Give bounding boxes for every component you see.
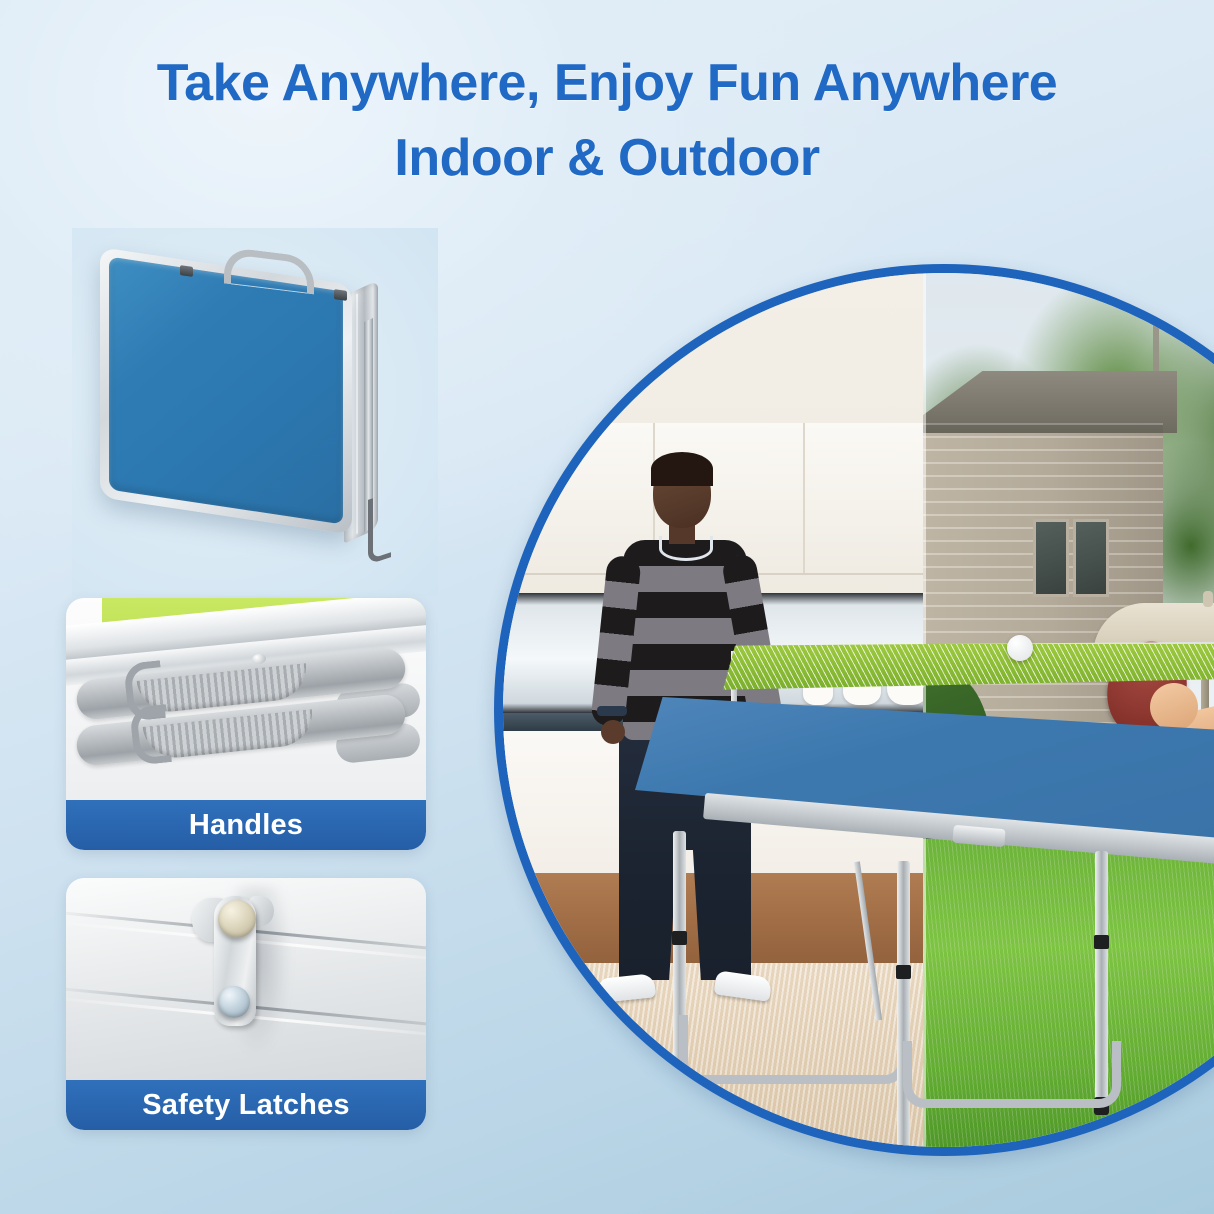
feature-card-handles: Handles	[66, 598, 426, 850]
case-blue-surface	[109, 257, 343, 525]
player-wristwatch	[597, 706, 627, 716]
handles-photo	[66, 598, 426, 800]
player-hand-left	[601, 720, 625, 744]
case-body	[100, 247, 352, 535]
promo-image: Take Anywhere, Enjoy Fun Anywhere Indoor…	[0, 0, 1214, 1214]
player-shoe-left	[598, 973, 656, 1003]
case-clip-left	[180, 265, 193, 277]
feature-card-safety-latches: Safety Latches	[66, 878, 426, 1130]
house-window-2	[1073, 519, 1109, 597]
outdoor-scene	[923, 273, 1214, 1147]
latch-brass-knob	[218, 900, 256, 938]
scene-divider	[923, 273, 926, 1147]
player-shoe-right	[714, 970, 773, 1002]
feature-label-handles: Handles	[66, 800, 426, 850]
headline-line-2: Indoor & Outdoor	[0, 127, 1214, 190]
player-necklace	[659, 536, 713, 561]
cabinet-seam-2	[803, 423, 805, 573]
page-title: Take Anywhere, Enjoy Fun Anywhere Indoor…	[0, 52, 1214, 191]
player-hair	[651, 452, 713, 486]
indoor-scene	[503, 273, 923, 1147]
safety-latches-photo	[66, 878, 426, 1080]
player-legs	[619, 730, 751, 980]
kitchen-cup-2	[843, 673, 881, 705]
folded-case-photo	[72, 228, 438, 596]
house-window-1	[1033, 519, 1069, 597]
lifestyle-collage-circle	[494, 264, 1214, 1156]
indoor-player	[593, 458, 783, 1018]
boy-hand	[1150, 683, 1198, 731]
kitchen-cup-1	[803, 679, 833, 705]
lawn-grass	[923, 839, 1214, 1147]
headline-line-1: Take Anywhere, Enjoy Fun Anywhere	[0, 52, 1214, 115]
feature-label-safety-latches: Safety Latches	[66, 1080, 426, 1130]
kitchen-cup-3	[887, 665, 923, 705]
case-hinge-bracket	[368, 492, 391, 564]
case-clip-right	[334, 289, 347, 301]
latch-pivot-pin	[218, 986, 250, 1018]
player-hand-right	[745, 716, 771, 742]
